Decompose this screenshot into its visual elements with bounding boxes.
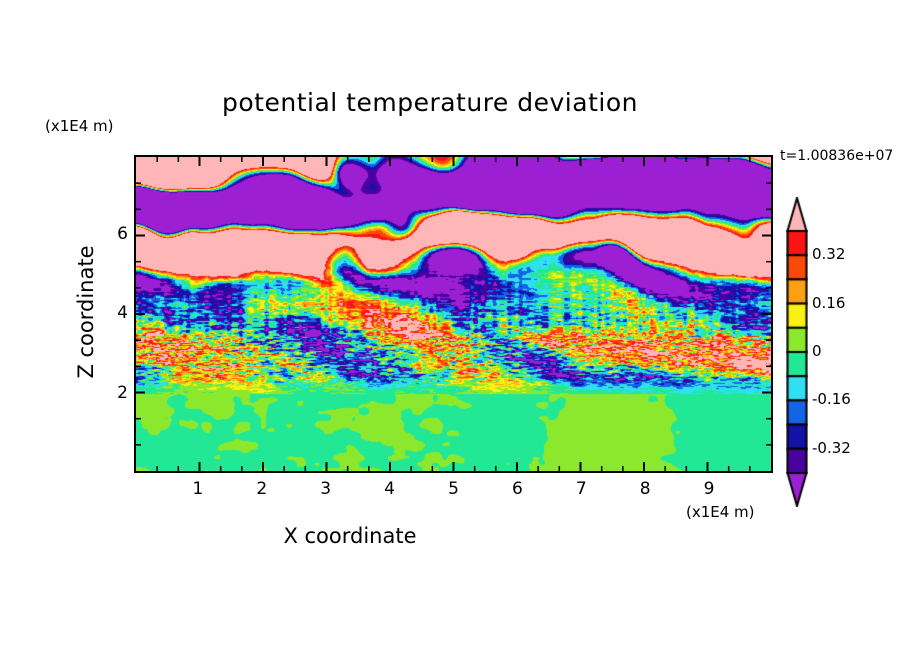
x-tick-label: 7 [566,479,596,499]
colorbar[interactable] [786,197,808,507]
y-tick-label: 6 [117,224,128,244]
colorbar-tick-labels: 0.320.160-0.16-0.32 [812,197,882,507]
contour-plot-area[interactable] [134,155,773,473]
y-axis-title: Z coordinate [74,212,98,412]
x-axis-unit-label: (x1E4 m) [686,503,755,521]
contour-field-canvas [136,157,771,471]
colorbar-tick-label: -0.16 [812,390,851,408]
x-axis-title: X coordinate [0,524,904,548]
x-tick-label: 9 [694,479,724,499]
y-tick-label: 2 [117,383,128,403]
x-tick-label: 6 [502,479,532,499]
timestamp-label: t=1.00836e+07 [780,148,904,164]
colorbar-tick-label: 0 [812,342,822,360]
colorbar-tick-label: 0.16 [812,294,845,312]
plot-page: potential temperature deviation (x1E4 m)… [0,0,904,654]
colorbar-canvas [786,197,808,507]
x-tick-label: 4 [375,479,405,499]
x-tick-label: 2 [247,479,277,499]
colorbar-tick-label: -0.32 [812,439,851,457]
x-tick-label: 3 [311,479,341,499]
page-title-text: potential temperature deviation [222,88,638,117]
x-axis-tick-labels: 123456789 [134,479,773,503]
z-axis-unit-label: (x1E4 m) [45,117,114,135]
y-tick-label: 4 [117,303,128,323]
x-tick-label: 8 [630,479,660,499]
x-tick-label: 5 [439,479,469,499]
x-tick-label: 1 [183,479,213,499]
page-title: potential temperature deviation [0,88,904,117]
x-axis-title-text: X coordinate [283,524,416,548]
colorbar-tick-label: 0.32 [812,245,845,263]
